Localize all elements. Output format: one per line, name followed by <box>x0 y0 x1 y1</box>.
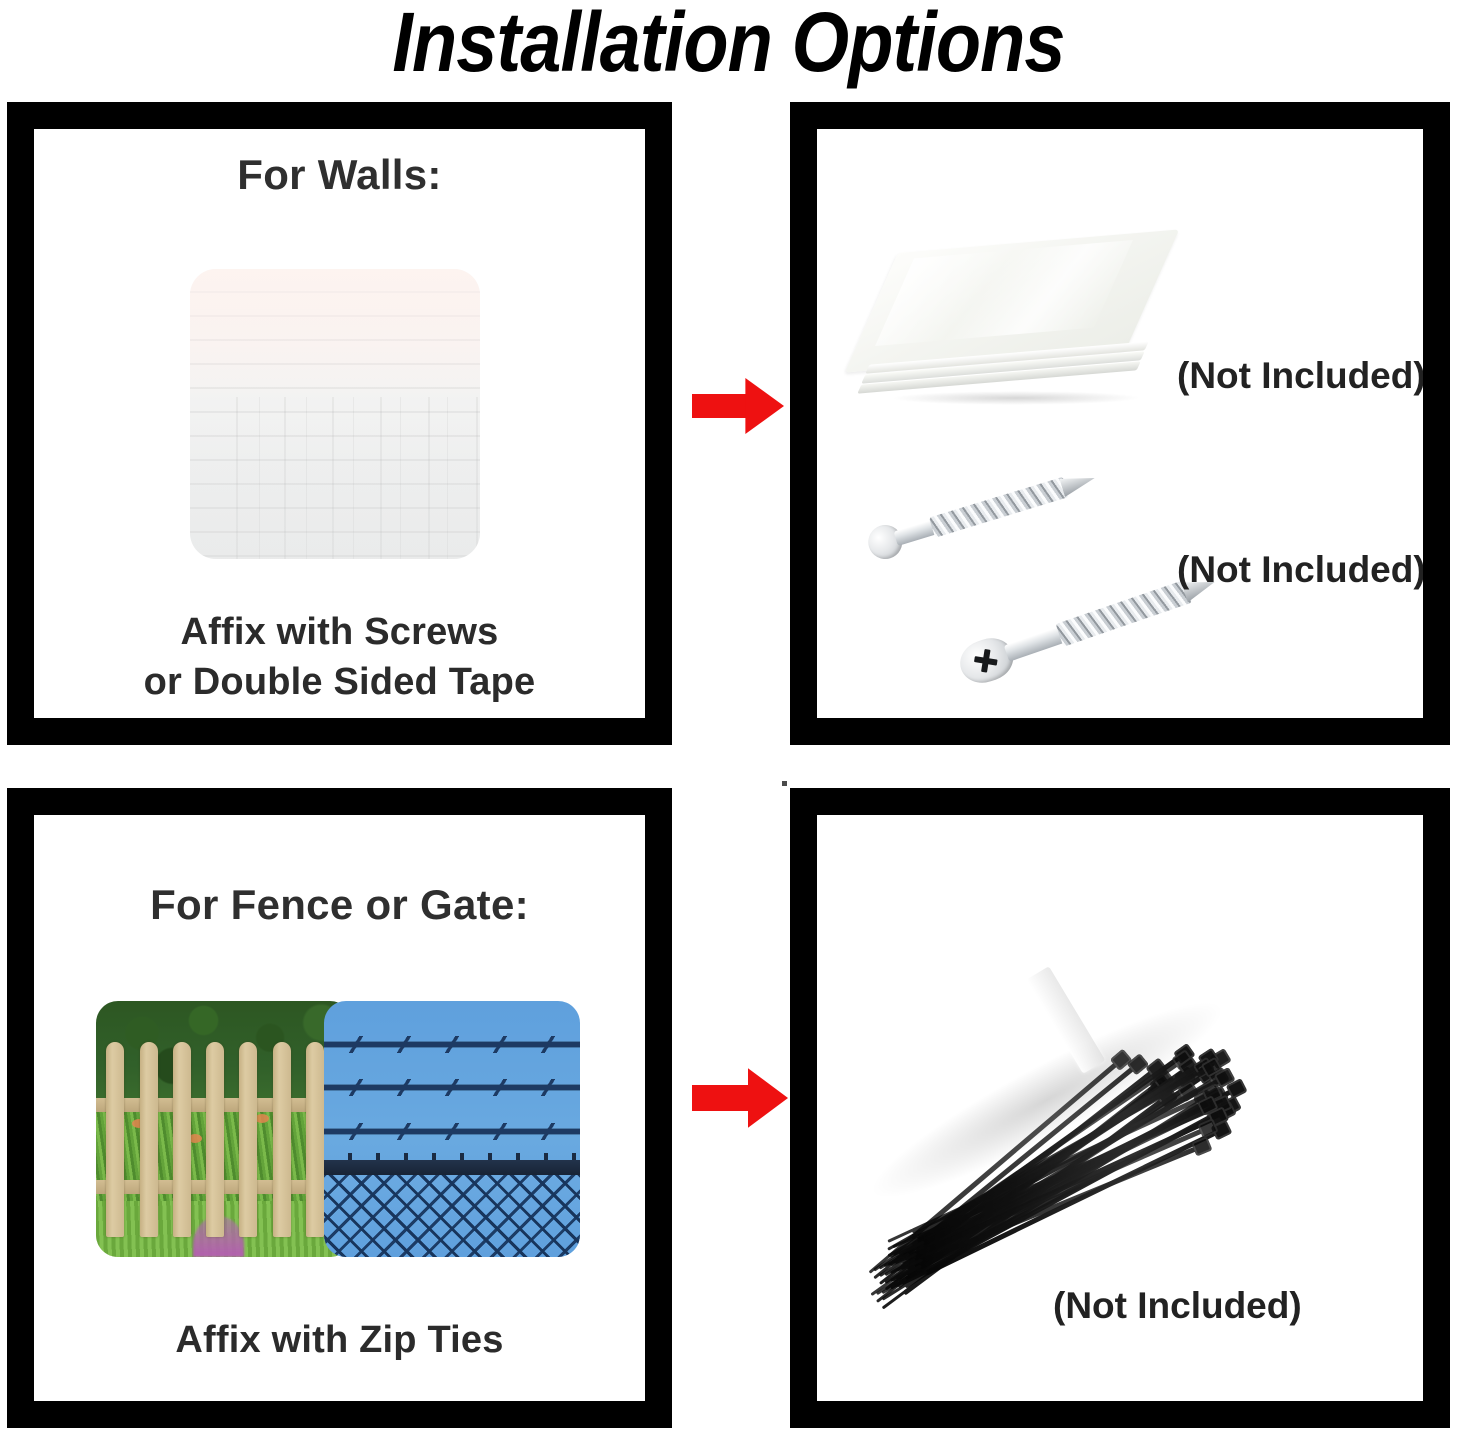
screw-shank <box>1004 626 1066 662</box>
double-sided-tape-stack <box>877 241 1167 411</box>
panel-for-walls: For Walls: Affix with Screws or Double S… <box>7 102 672 745</box>
tape-shadow <box>887 391 1144 405</box>
screw-threads <box>929 477 1069 538</box>
chain-link-barbed-wire-fence-photo <box>324 1001 580 1257</box>
fence-picket <box>273 1042 291 1237</box>
panel-wall-hardware-content: (Not Included) (Not Included) <box>817 129 1423 718</box>
panel-zip-ties: (Not Included) <box>790 788 1450 1428</box>
arrow-shaft <box>692 1085 753 1111</box>
caption-line-1: Affix with Screws <box>34 607 645 657</box>
image-speck-artifact <box>782 781 787 786</box>
for-fence-caption: Affix with Zip Ties <box>34 1315 645 1365</box>
fence-picket <box>173 1042 191 1237</box>
panel-for-walls-content: For Walls: Affix with Screws or Double S… <box>34 129 645 718</box>
screw-threads <box>1056 580 1192 647</box>
for-walls-caption: Affix with Screws or Double Sided Tape <box>34 607 645 707</box>
barbed-wire-strand <box>324 1042 580 1047</box>
panel-wall-hardware: (Not Included) (Not Included) <box>790 102 1450 745</box>
screw-tip <box>1059 469 1097 497</box>
wooden-picket-fence-photo <box>96 1001 352 1257</box>
for-fence-heading: For Fence or Gate: <box>34 881 645 929</box>
fence-picket <box>206 1042 224 1237</box>
fence-picket <box>239 1042 257 1237</box>
zip-ties-not-included-label: (Not Included) <box>1053 1285 1302 1327</box>
wood-screw-upper <box>863 455 1114 566</box>
arrow-head <box>748 1068 788 1128</box>
barbed-wire-strand <box>324 1085 580 1090</box>
paint-wash-overlay <box>190 269 480 559</box>
panel-for-fence-content: For Fence or Gate: <box>34 815 645 1401</box>
caption-line-2: or Double Sided Tape <box>34 657 645 707</box>
screws-not-included-label: (Not Included) <box>1177 549 1423 591</box>
red-right-arrow <box>692 378 784 434</box>
fence-picket <box>106 1042 124 1237</box>
chain-link-mesh <box>324 1175 580 1257</box>
fence-picket <box>306 1042 324 1237</box>
red-right-arrow <box>692 1068 788 1128</box>
panel-zip-ties-content: (Not Included) <box>817 815 1423 1401</box>
fence-picket <box>140 1042 158 1237</box>
page-title: Installation Options <box>87 0 1369 90</box>
for-walls-heading: For Walls: <box>34 151 645 199</box>
white-brick-wall-swatch <box>190 269 480 559</box>
barbed-wire-strand <box>324 1129 580 1134</box>
arrow-head <box>745 378 784 434</box>
panel-for-fence-or-gate: For Fence or Gate: <box>7 788 672 1428</box>
arrow-shaft <box>692 394 751 419</box>
tape-not-included-label: (Not Included) <box>1177 355 1423 397</box>
